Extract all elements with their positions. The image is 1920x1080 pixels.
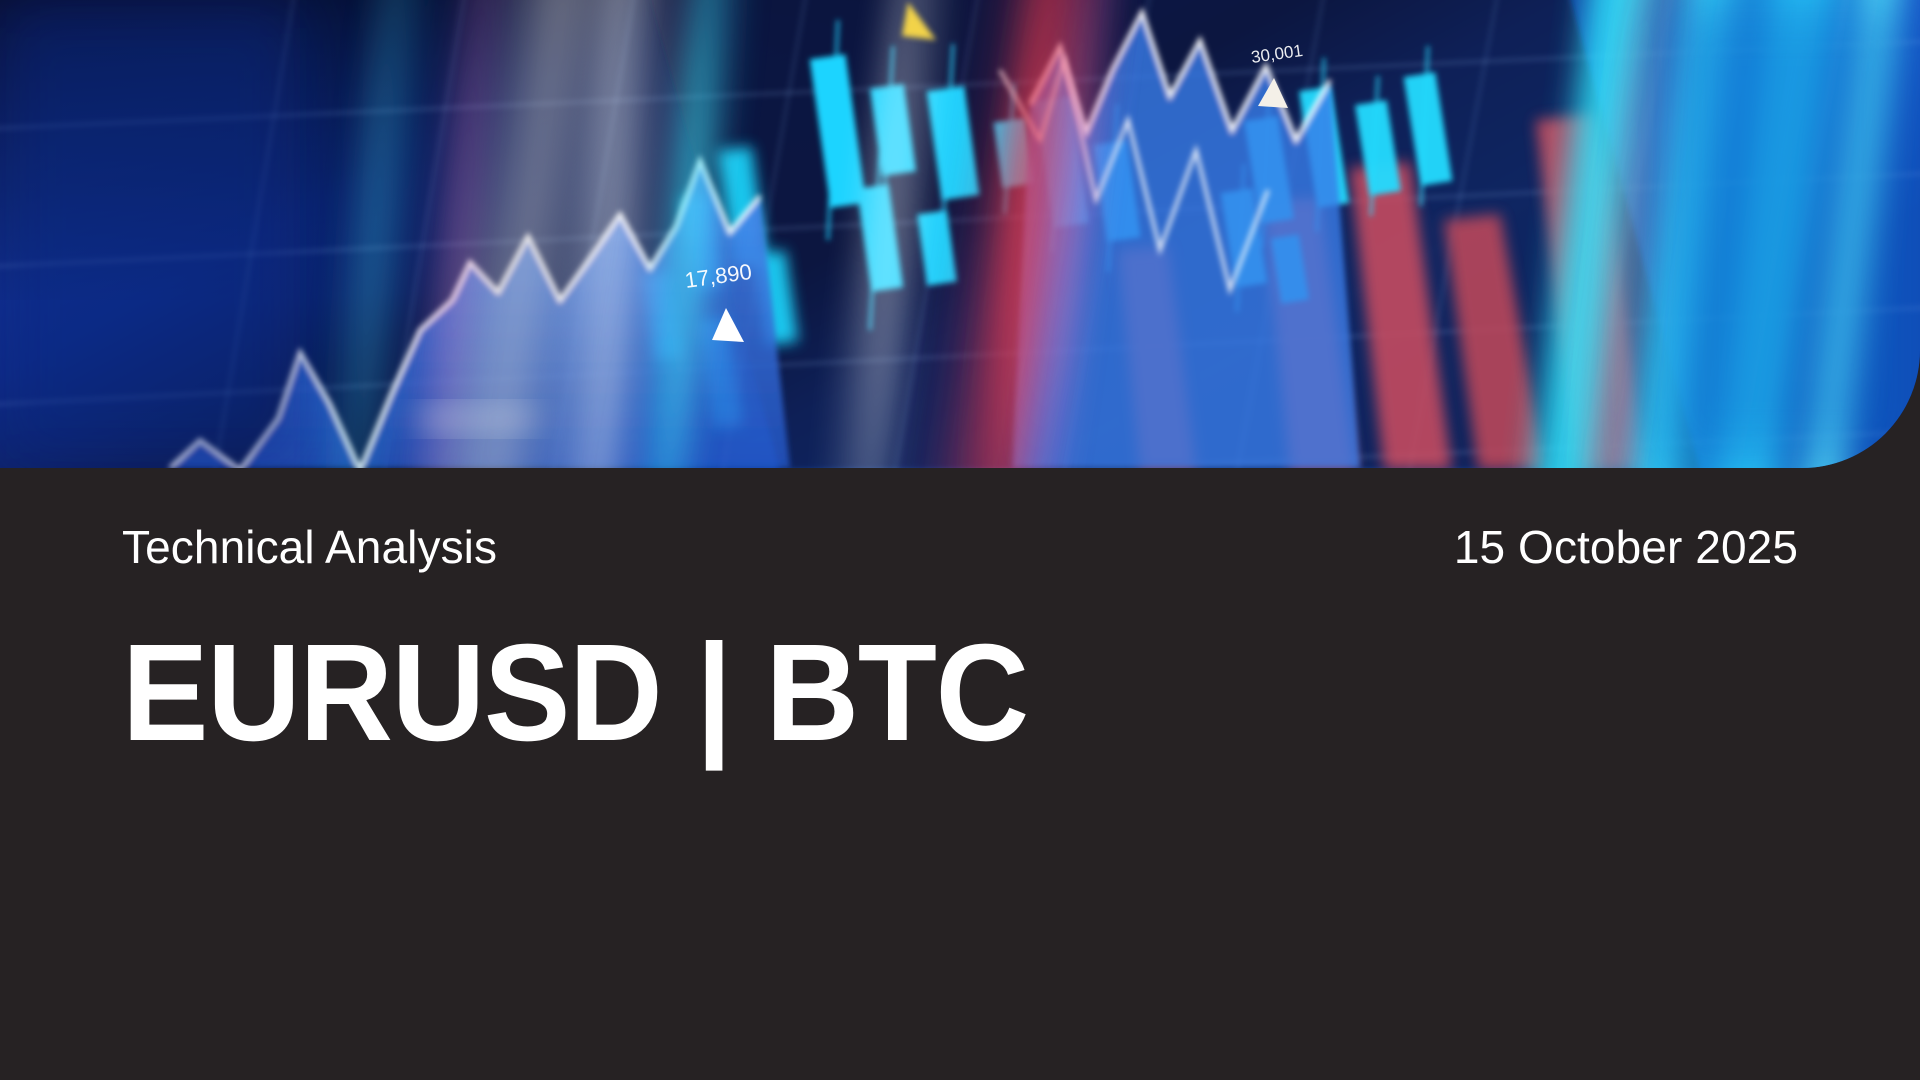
hero-chart-image: 30,001 17,890 bbox=[0, 0, 1920, 468]
publication-date: 15 October 2025 bbox=[1454, 523, 1798, 571]
hero-chart-graphic: 30,001 17,890 bbox=[0, 0, 1920, 468]
blurred-label bbox=[418, 408, 536, 430]
page-title: EURUSD | BTC bbox=[122, 623, 1028, 764]
content-panel: Technical Analysis 15 October 2025 EURUS… bbox=[0, 468, 1920, 1080]
technical-analysis-banner: 30,001 17,890 Technical Analysis 15 Octo bbox=[0, 0, 1920, 1080]
meta-row: Technical Analysis 15 October 2025 bbox=[122, 523, 1798, 571]
eyebrow-label: Technical Analysis bbox=[122, 523, 497, 571]
